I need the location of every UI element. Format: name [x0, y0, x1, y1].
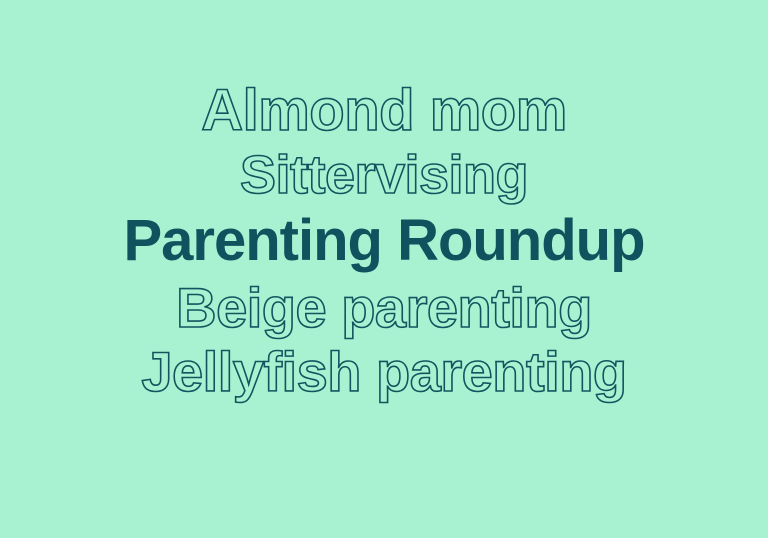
parenting-roundup-poster: Almond mom Sittervising Parenting Roundu…	[0, 0, 768, 538]
poster-line-jellyfish-parenting: Jellyfish parenting	[0, 344, 768, 400]
poster-headline-parenting-roundup: Parenting Roundup	[0, 212, 768, 270]
poster-line-sittervising: Sittervising	[0, 148, 768, 202]
poster-line-beige-parenting: Beige parenting	[0, 280, 768, 336]
poster-line-almond-mom: Almond mom	[0, 82, 768, 140]
